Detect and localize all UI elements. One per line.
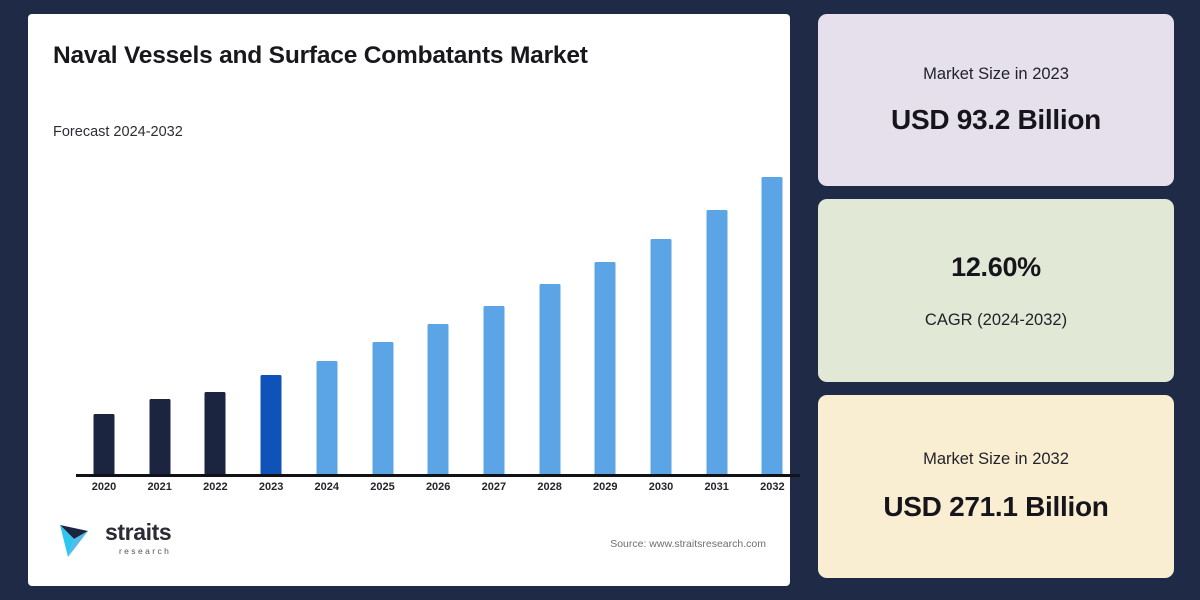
- bar-rect-2031: [706, 210, 727, 474]
- bar-rect-2026: [428, 324, 449, 474]
- x-tick-2029: 2029: [578, 481, 632, 493]
- x-tick-2026: 2026: [411, 481, 465, 493]
- bar-2024: [300, 154, 354, 474]
- bar-2023: [244, 154, 298, 474]
- brand-logo: straits research: [58, 517, 171, 559]
- stat-value-cagr: 12.60%: [951, 252, 1041, 283]
- x-tick-2024: 2024: [300, 481, 354, 493]
- page-title: Naval Vessels and Surface Combatants Mar…: [53, 42, 588, 70]
- bar-group: [48, 154, 800, 474]
- bar-2029: [578, 154, 632, 474]
- stat-card-cagr: 12.60% CAGR (2024-2032): [818, 199, 1174, 382]
- x-tick-2028: 2028: [523, 481, 577, 493]
- bar-rect-2030: [651, 239, 672, 474]
- forecast-subtitle: Forecast 2024-2032: [53, 124, 183, 140]
- bar-rect-2032: [762, 177, 783, 474]
- bar-rect-2027: [483, 306, 504, 474]
- bar-rect-2028: [539, 284, 560, 474]
- bar-2020: [77, 154, 131, 474]
- x-tick-2022: 2022: [188, 481, 242, 493]
- x-tick-2025: 2025: [356, 481, 410, 493]
- bar-2031: [690, 154, 744, 474]
- bar-2028: [523, 154, 577, 474]
- stat-value-2023: USD 93.2 Billion: [891, 104, 1101, 136]
- x-tick-2027: 2027: [467, 481, 521, 493]
- bar-2030: [634, 154, 688, 474]
- bar-2022: [188, 154, 242, 474]
- source-attribution: Source: www.straitsresearch.com: [610, 538, 766, 550]
- x-axis-labels: 2020202120222023202420252026202720282029…: [48, 481, 800, 507]
- bar-2021: [133, 154, 187, 474]
- bar-rect-2024: [316, 361, 337, 474]
- bar-chart-plot: 2020202120222023202420252026202720282029…: [48, 154, 800, 484]
- bar-rect-2022: [205, 392, 226, 474]
- bar-rect-2029: [595, 262, 616, 474]
- stat-label-2032: Market Size in 2032: [923, 450, 1069, 469]
- bar-rect-2020: [94, 414, 115, 474]
- x-tick-2020: 2020: [77, 481, 131, 493]
- stat-value-2032: USD 271.1 Billion: [883, 491, 1108, 523]
- x-tick-2031: 2031: [690, 481, 744, 493]
- logo-wordmark: straits research: [105, 521, 171, 556]
- logo-subtitle: research: [105, 547, 171, 556]
- bar-2025: [356, 154, 410, 474]
- x-tick-2032: 2032: [745, 481, 799, 493]
- stat-label-cagr: CAGR (2024-2032): [925, 311, 1067, 330]
- report-infographic: Naval Vessels and Surface Combatants Mar…: [0, 0, 1200, 600]
- x-axis-line: [76, 474, 800, 477]
- chart-card: Naval Vessels and Surface Combatants Mar…: [28, 14, 790, 586]
- stat-card-market-size-2032: Market Size in 2032 USD 271.1 Billion: [818, 395, 1174, 578]
- bar-2027: [467, 154, 521, 474]
- x-tick-2021: 2021: [133, 481, 187, 493]
- bar-rect-2023: [261, 375, 282, 474]
- stat-card-market-size-2023: Market Size in 2023 USD 93.2 Billion: [818, 14, 1174, 186]
- x-tick-2023: 2023: [244, 481, 298, 493]
- stats-panel: Market Size in 2023 USD 93.2 Billion 12.…: [818, 14, 1174, 586]
- bar-2026: [411, 154, 465, 474]
- stat-label-2023: Market Size in 2023: [923, 65, 1069, 84]
- x-tick-2030: 2030: [634, 481, 688, 493]
- bar-rect-2021: [149, 399, 170, 474]
- bar-2032: [745, 154, 799, 474]
- logo-name: straits: [105, 521, 171, 544]
- bar-rect-2025: [372, 342, 393, 474]
- straits-arrow-icon: [58, 517, 98, 559]
